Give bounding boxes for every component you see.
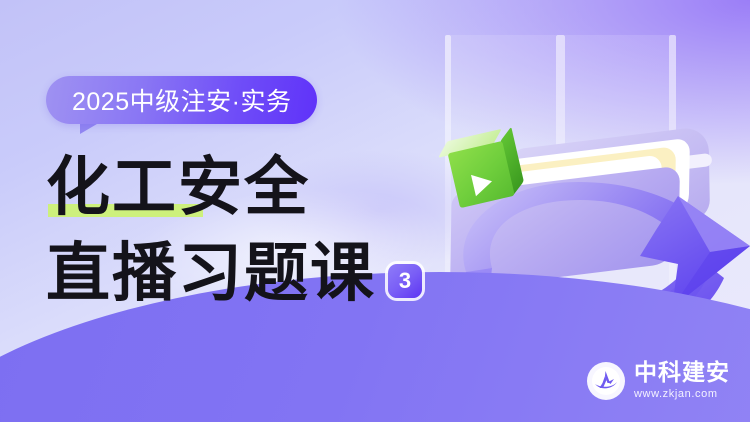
episode-number-badge: 3 <box>388 264 422 298</box>
brand-name-cn: 中科建安 <box>634 361 730 384</box>
course-category-badge: 2025中级注安·实务 <box>46 76 317 124</box>
zkjan-circle-logo-icon <box>587 362 625 400</box>
poster-title-block: 化工安全 直播习题课 3 <box>46 152 422 310</box>
title-line-1: 化工安全 <box>46 152 422 224</box>
course-banner-poster: 2025中级注安·实务 化工安全 直播习题课 3 中科建安 www.zkjan.… <box>0 0 750 422</box>
badge-label: 2025中级注安·实务 <box>46 76 317 124</box>
brand-url: www.zkjan.com <box>634 389 730 400</box>
title-line-2: 直播习题课 <box>46 238 376 310</box>
green-play-cube-icon <box>446 132 520 206</box>
brand-logo: 中科建安 www.zkjan.com <box>587 361 730 400</box>
brand-text: 中科建安 www.zkjan.com <box>634 361 730 400</box>
play-triangle-icon <box>471 171 494 197</box>
